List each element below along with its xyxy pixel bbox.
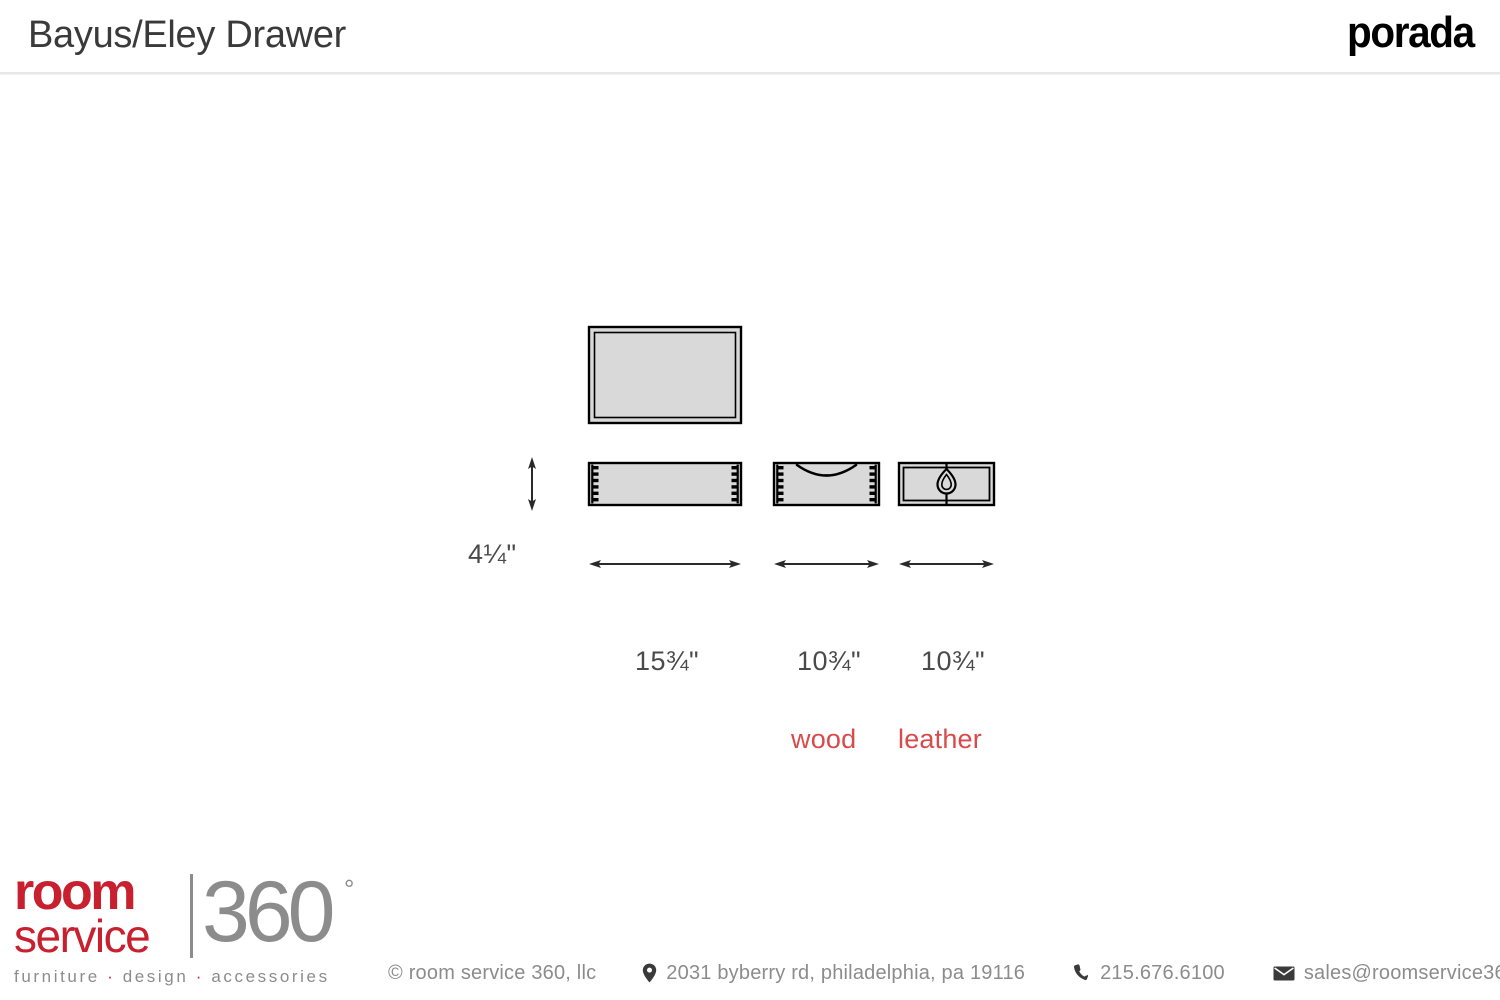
room-service-360-logo: room service 360 ° <box>14 870 364 970</box>
logo-degree-symbol: ° <box>344 874 354 905</box>
logo-tagline: furniture · design · accessories <box>14 967 330 987</box>
side-elevation-wood <box>774 463 879 505</box>
dimension-label-height: 4¼" <box>468 539 517 570</box>
front-elevation <box>589 463 741 505</box>
logo-service-text: service <box>14 914 186 958</box>
email-text: sales@roomservice360.com <box>1304 962 1500 985</box>
copyright-notice: © room service 360, llc <box>388 962 596 985</box>
logo-wordmark: room service <box>14 870 186 958</box>
page-title: Bayus/Eley Drawer <box>28 14 346 57</box>
map-pin-icon <box>642 963 657 983</box>
dimension-arrow-width-leather <box>899 560 994 568</box>
material-label-wood: wood <box>791 724 856 755</box>
phone-item[interactable]: 215.676.6100 <box>1073 962 1225 985</box>
logo-divider <box>190 874 193 958</box>
material-label-leather: leather <box>898 724 982 755</box>
email-item[interactable]: sales@roomservice360.com <box>1273 962 1500 985</box>
dimension-arrow-width-main <box>589 560 741 568</box>
phone-text: 215.676.6100 <box>1100 962 1225 985</box>
dimension-label-width-wood: 10¾" <box>797 646 861 677</box>
logo-room-text: room <box>14 870 186 914</box>
envelope-icon <box>1273 966 1295 981</box>
address-item[interactable]: 2031 byberry rd, philadelphia, pa 19116 <box>642 962 1025 985</box>
tagline-separator-1: · <box>107 967 115 986</box>
address-text: 2031 byberry rd, philadelphia, pa 19116 <box>666 962 1025 985</box>
page-header: Bayus/Eley Drawer porada <box>0 0 1500 73</box>
tagline-design: design <box>123 967 189 986</box>
logo-360-text: 360 <box>202 866 331 958</box>
dimension-arrow-width-wood <box>774 560 879 568</box>
tagline-furniture: furniture <box>14 967 100 986</box>
footer-contact-row: © room service 360, llc 2031 byberry rd,… <box>388 958 1500 988</box>
page-footer: room service 360 ° furniture · design · … <box>0 863 1500 1000</box>
technical-drawing-canvas: 4¼" 15¾" 10¾" 10¾" wood leather <box>0 73 1500 863</box>
side-elevation-leather <box>899 463 994 505</box>
dimension-arrow-height <box>528 457 536 511</box>
brand-logo-porada: porada <box>1347 8 1474 58</box>
tagline-accessories: accessories <box>211 967 329 986</box>
dimension-label-width-leather: 10¾" <box>921 646 985 677</box>
dimension-label-width-main: 15¾" <box>635 646 699 677</box>
plan-view <box>589 327 741 423</box>
phone-icon <box>1073 964 1091 982</box>
tagline-separator-2: · <box>196 967 204 986</box>
